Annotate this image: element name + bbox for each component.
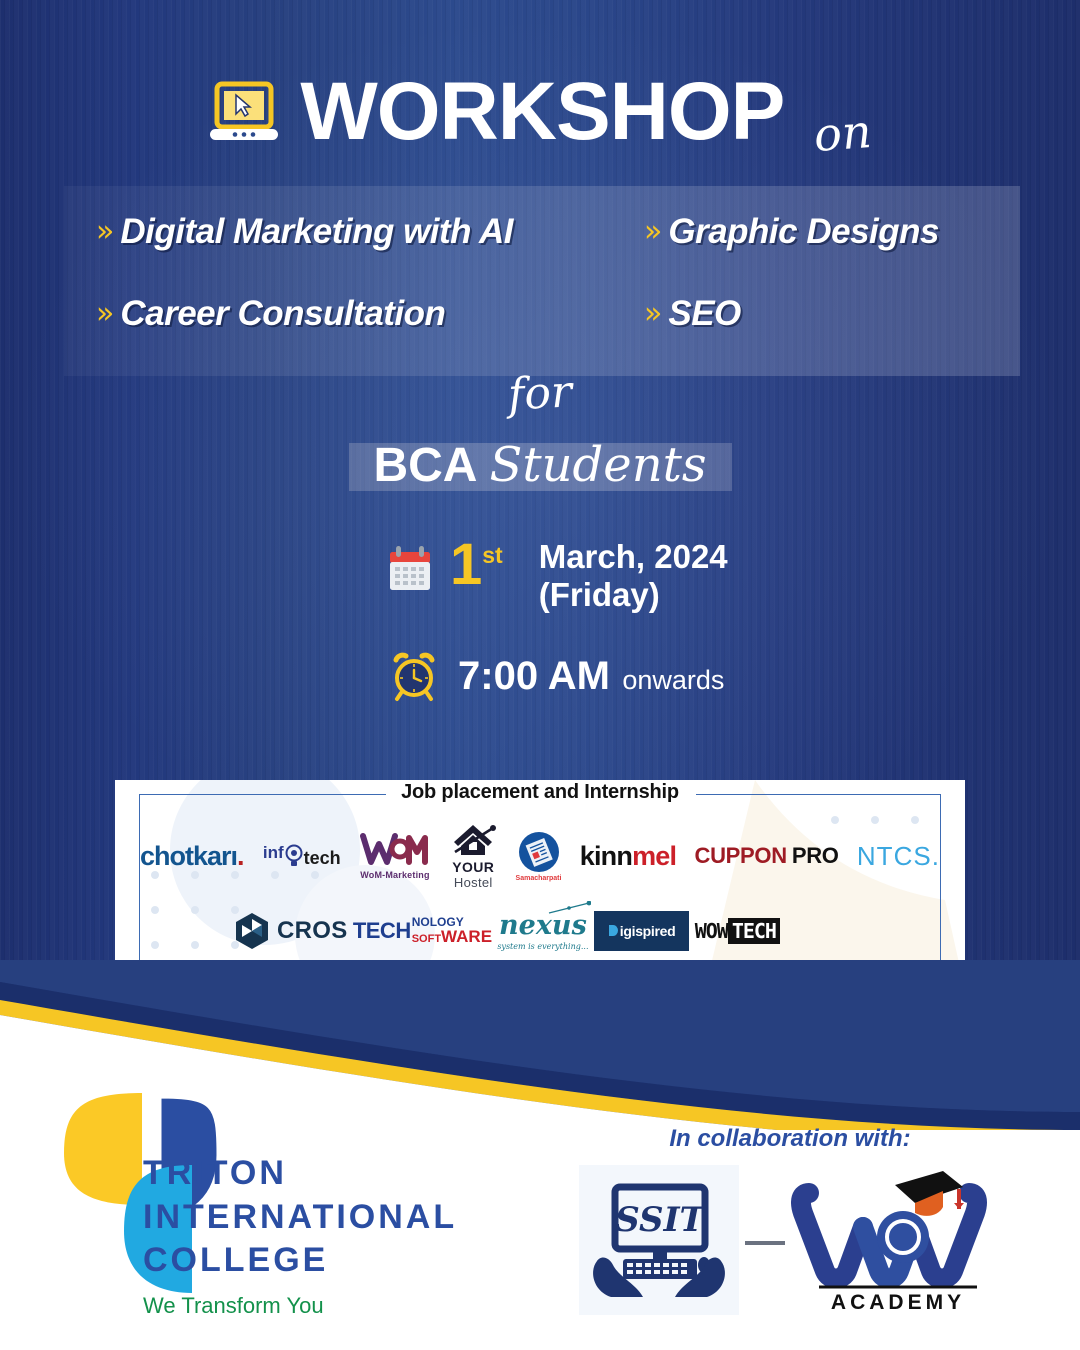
partner-logo-cuppon-pro: CUPPON PRO (695, 843, 839, 869)
hostel-text: Hostel (454, 875, 493, 890)
wowtech-tech-text: TECH (728, 918, 780, 944)
wom-subtitle: WoM-Marketing (360, 870, 429, 880)
tech-word: TECH (353, 918, 411, 944)
workshop-poster: WORKSHOP on » Digital Marketing with AI … (0, 0, 1080, 1350)
ntcs-text: NTCS (857, 841, 932, 872)
partner-logo-ntcs: NTCS . (857, 841, 940, 872)
partner-logo-chotkari: chotkarı . (140, 841, 245, 872)
wow-text: WOW (695, 919, 728, 943)
topic-item-digital-marketing: » Digital Marketing with AI (96, 212, 644, 252)
audience-group: Students (489, 437, 706, 493)
date-day-suffix: st (482, 542, 502, 569)
cuppon-text: CUPPON (695, 843, 787, 869)
date-day: 1 (450, 538, 482, 591)
ntcs-dot: . (932, 841, 940, 872)
calendar-icon (388, 546, 432, 592)
samacharpati-text: Samacharpati (516, 875, 562, 882)
partner-logo-infotech: inf tech (263, 843, 341, 869)
collaboration-label: In collaboration with: (560, 1125, 1020, 1153)
partner-logo-wowtech: WOW TECH (695, 918, 780, 944)
triton-wordmark: TRITON INTERNATIONAL COLLEGE We Transfor… (143, 1152, 457, 1319)
page-title: WORKSHOP (300, 71, 784, 153)
tech-text: tech (304, 848, 341, 869)
topics-list: » Digital Marketing with AI » Graphic De… (96, 212, 996, 334)
date-day-group: 1 st (450, 538, 503, 591)
ware-word: WARE (441, 928, 492, 945)
topic-label: Career Consultation (120, 294, 445, 334)
college-name-line-2: INTERNATIONAL (143, 1196, 457, 1240)
partner-logo-row-2: CROS TECH NOLOGY SOFT WARE (235, 910, 780, 951)
partner-logo-nexus: nexus system is everything... (497, 910, 588, 951)
kinnmel-inn: inn (594, 841, 632, 872)
date-month-year: March, 2024 (539, 538, 728, 576)
nexus-tagline: system is everything... (497, 942, 588, 951)
time-suffix: onwards (622, 665, 724, 695)
infotech-bulb-icon (283, 843, 305, 869)
topic-label: SEO (668, 294, 740, 334)
poster-header: WORKSHOP on (0, 62, 1080, 162)
collab-separator-dash (745, 1241, 785, 1245)
audience-line: BCA Students (0, 437, 1080, 493)
college-tagline: We Transform You (143, 1293, 457, 1319)
event-date: 1 st March, 2024 (Friday) (388, 538, 728, 614)
partner-logo-digispired: igispired (594, 911, 690, 951)
topic-item-graphic-designs: » Graphic Designs (644, 212, 996, 252)
your-hostel-house-icon (449, 822, 497, 858)
partner-logo-your-hostel: YOUR Hostel (449, 822, 497, 890)
topic-label: Graphic Designs (668, 212, 939, 252)
partner-logo-technology-software: TECH NOLOGY SOFT WARE (353, 916, 492, 945)
chevron-right-icon: » (644, 217, 654, 247)
alarm-clock-icon (388, 650, 440, 702)
chevron-right-icon: » (96, 217, 106, 247)
chevron-right-icon: » (644, 299, 654, 329)
partner-logo-kinnmel: k inn mel (580, 841, 676, 872)
audience-program: BCA (373, 438, 477, 493)
pro-text: PRO (792, 843, 839, 869)
digispired-text: igispired (620, 923, 676, 939)
college-name-line-1: TRITON (143, 1152, 457, 1196)
samacharpati-icon (518, 831, 560, 873)
time-text-group: 7:00 AM onwards (458, 654, 724, 699)
topic-item-seo: » SEO (644, 294, 996, 334)
event-time: 7:00 AM onwards (388, 650, 724, 702)
nexus-spark-icon (547, 901, 591, 915)
chevron-right-icon: » (96, 299, 106, 329)
collaboration-section: In collaboration with: SSIT (560, 1125, 1060, 1320)
chotkari-wordmark: chotkarı (140, 841, 237, 872)
soft-word: SOFT (412, 934, 441, 945)
topic-label: Digital Marketing with AI (120, 212, 513, 252)
ssit-text: SSIT (615, 1200, 707, 1240)
cros-text: CROS (277, 917, 348, 945)
collab-logo-wom-academy: ACADEMY (791, 1165, 1001, 1320)
kinnmel-k: k (580, 841, 594, 872)
info-text: inf (263, 843, 284, 863)
cros-hex-icon (235, 912, 269, 950)
partner-logo-wom-marketing: WoM-Marketing (359, 832, 431, 880)
partner-logo-row-1: chotkarı . inf tech WoM-Marketing (140, 822, 940, 890)
partner-logo-cros: CROS (235, 912, 348, 950)
college-name-line-3: COLLEGE (143, 1239, 457, 1283)
date-weekday: (Friday) (539, 576, 728, 614)
chotkari-dot: . (237, 841, 245, 872)
collaboration-logos: SSIT (560, 1165, 1020, 1320)
title-connector: on (813, 104, 874, 162)
collab-logo-ssit: SSIT (579, 1165, 739, 1320)
wom-mark-icon (359, 832, 431, 868)
date-text-group: March, 2024 (Friday) (539, 538, 728, 614)
topic-item-career-consultation: » Career Consultation (96, 294, 644, 334)
academy-text: ACADEMY (831, 1291, 965, 1314)
your-text: YOUR (452, 859, 494, 875)
partners-title: Job placement and Internship (0, 781, 1080, 804)
time-value: 7:00 AM (458, 654, 610, 698)
laptop-cursor-icon (208, 81, 280, 147)
kinnmel-mel: mel (632, 841, 676, 872)
digispired-d-icon (608, 924, 619, 937)
partner-logo-samacharpati: Samacharpati (516, 831, 562, 882)
